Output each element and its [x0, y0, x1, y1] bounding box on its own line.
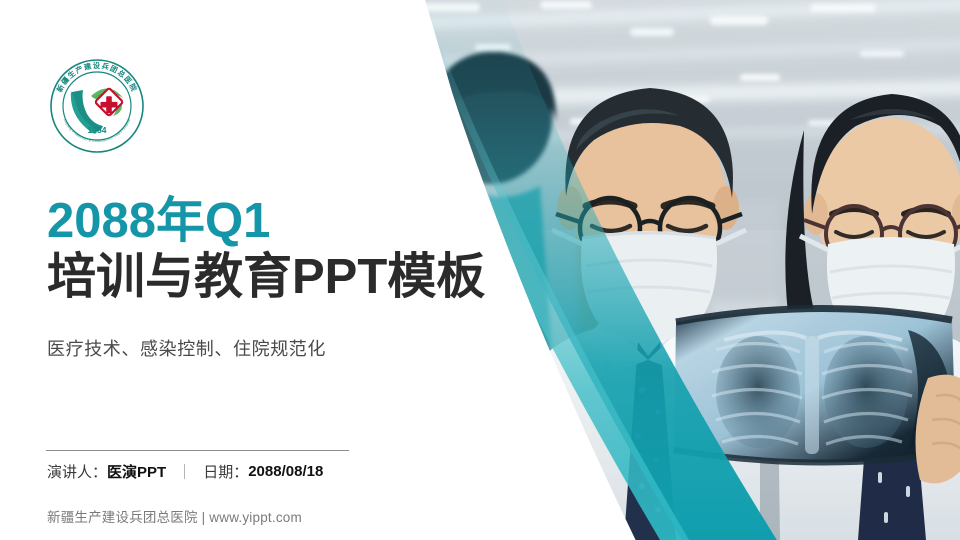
presentation-slide: 新疆生产建设兵团总医院 Xinjiang Production & Constr…	[0, 0, 960, 540]
meta-row: 演讲人： 医演PPT 日期： 2088/08/18	[47, 461, 323, 482]
title-line-year: 2088年Q1	[47, 196, 517, 248]
subtitle: 医疗技术、感染控制、住院规范化	[47, 335, 326, 361]
presenter-label: 演讲人：	[47, 461, 107, 482]
date-value: 2088/08/18	[248, 463, 323, 480]
footer-credit: 新疆生产建设兵团总医院 | www.yippt.com	[47, 506, 302, 526]
meta-divider	[46, 450, 349, 451]
logo-year: 1954	[88, 125, 107, 135]
presenter-value: 医演PPT	[107, 461, 166, 482]
meta-separator	[184, 464, 185, 479]
hospital-logo: 新疆生产建设兵团总医院 Xinjiang Production & Constr…	[47, 56, 147, 156]
title-line-main: 培训与教育PPT模板	[47, 250, 517, 305]
title-block: 2088年Q1 培训与教育PPT模板	[47, 196, 517, 305]
date-label: 日期：	[203, 461, 248, 482]
